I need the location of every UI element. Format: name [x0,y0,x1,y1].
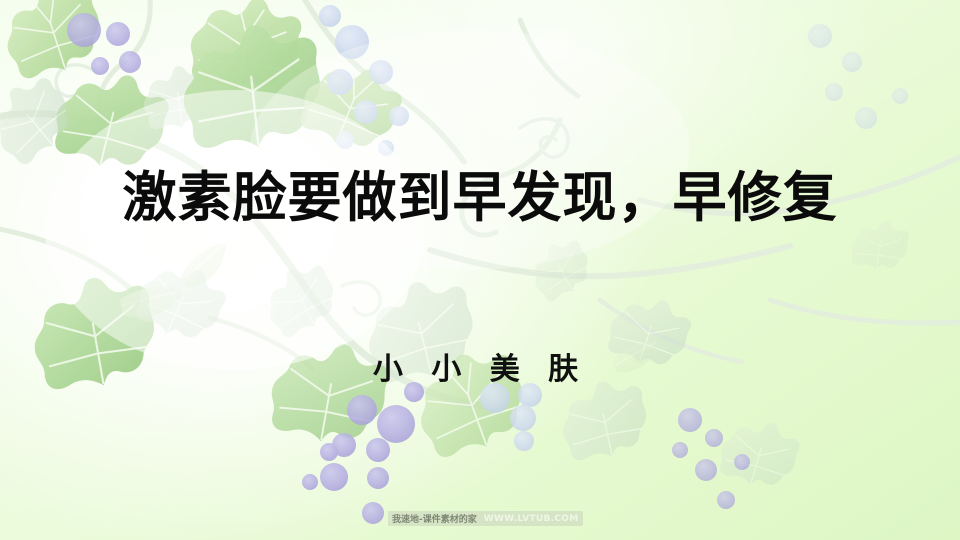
slide-title: 激素脸要做到早发现，早修复 [123,168,838,227]
grape-cluster-purple [672,408,750,509]
grape-cluster-blue [319,5,409,156]
grape-cluster-blue [808,24,908,129]
leaf-shape [0,0,111,85]
slide-subtitle: 小 小 美 肤 [373,344,587,388]
leaf-shape [129,252,232,351]
grape-cluster-purple [67,13,141,75]
leaf-shape [177,19,326,154]
leaf-shape [255,256,346,343]
leaf-shape [139,62,217,133]
leaf-shape [174,241,237,291]
grape-vine-decoration [0,0,960,540]
leaf-shape [118,283,183,323]
leaf-shape [522,232,599,306]
leaf-shape [714,411,804,495]
leaf-shape [47,61,174,179]
title-container: 激素脸要做到早发现，早修复 [0,168,960,227]
leaf-shape [185,0,304,98]
watermark-site-name: 我速地-课件素材的家 [392,512,477,525]
grape-cluster-blue [480,383,542,451]
grape-cluster-purple [302,382,424,524]
watermark-bar: 我速地-课件素材的家 WWW.LVTUB.COM [388,511,583,526]
leaf-shape [0,67,83,171]
leaf-shape [293,50,409,160]
presentation-slide: 激素脸要做到早发现，早修复 小 小 美 肤 我速地-课件素材的家 WWW.LVT… [0,0,960,540]
subtitle-container: 小 小 美 肤 [0,344,960,388]
watermark-url: WWW.LVTUB.COM [484,514,579,524]
